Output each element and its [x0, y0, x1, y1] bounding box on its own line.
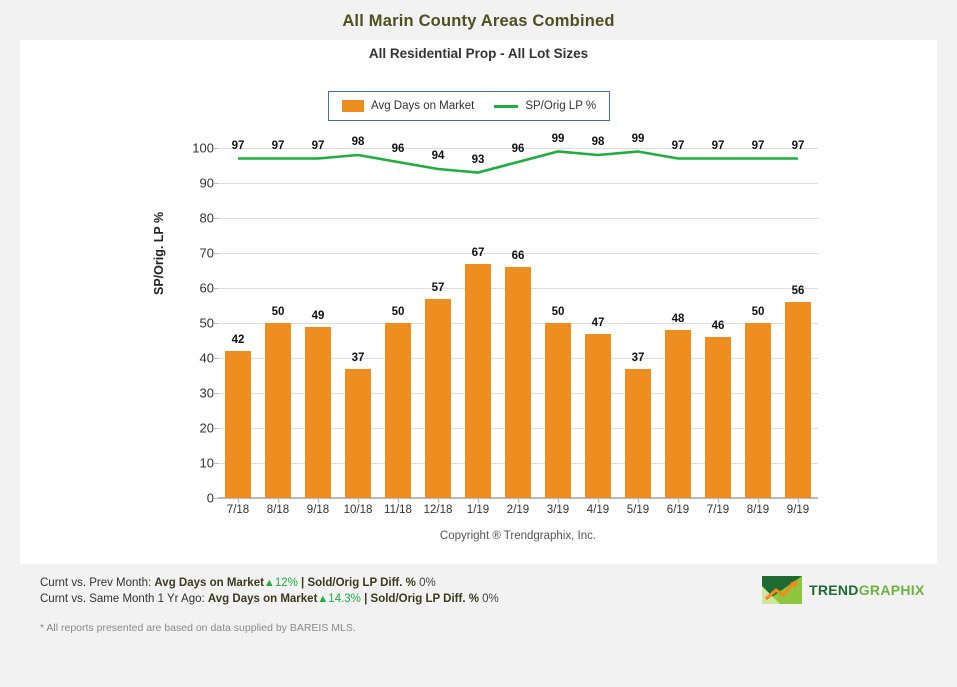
line-value-label: 97 [752, 140, 765, 152]
bar[interactable] [425, 299, 451, 499]
y-axis-tick-mark [213, 288, 218, 289]
footer-line-prev-month: Curnt vs. Prev Month: Avg Days on Market… [40, 576, 740, 592]
y-axis-tick-label: 50 [154, 316, 214, 331]
footer-value-1a: 12% [275, 577, 298, 589]
trendgraphix-logo: TRENDGRAPHIX [762, 576, 925, 604]
bar-value-label: 46 [712, 320, 725, 332]
disclaimer-text: * All reports presented are based on dat… [40, 622, 356, 634]
bar[interactable] [705, 337, 731, 498]
bar-value-label: 37 [632, 352, 645, 364]
x-axis-tick-label: 1/19 [467, 504, 489, 516]
line-value-label: 98 [592, 136, 605, 148]
bar-value-label: 50 [552, 306, 565, 318]
bar[interactable] [665, 330, 691, 498]
bar[interactable] [785, 302, 811, 498]
y-axis-tick-label: 20 [154, 421, 214, 436]
y-axis-tick-label: 0 [154, 491, 214, 506]
bar-value-label: 47 [592, 317, 605, 329]
y-axis-tick-mark [213, 323, 218, 324]
bar-value-label: 66 [512, 250, 525, 262]
bar[interactable] [225, 351, 251, 498]
bar-value-label: 49 [312, 310, 325, 322]
footer-prefix-1: Curnt vs. Prev Month: [40, 577, 151, 589]
x-axis-tick-mark [318, 498, 319, 503]
bar-value-label: 37 [352, 352, 365, 364]
footer-metric-2a: Avg Days on Market [208, 593, 318, 605]
logo-text-trend: TREND [809, 582, 859, 598]
x-axis-tick-label: 11/18 [384, 504, 412, 516]
bar[interactable] [305, 327, 331, 499]
y-axis-tick-mark [213, 148, 218, 149]
line-value-label: 99 [632, 133, 645, 145]
x-axis-tick-mark [678, 498, 679, 503]
footer-metric-1a: Avg Days on Market [154, 577, 264, 589]
y-axis-tick-mark [213, 183, 218, 184]
y-axis-tick-label: 10 [154, 456, 214, 471]
x-axis-tick-label: 7/18 [227, 504, 249, 516]
line-value-label: 97 [712, 140, 725, 152]
line-value-label: 96 [392, 143, 405, 155]
y-axis-tick-label: 70 [154, 246, 214, 261]
page-title: All Marin County Areas Combined [0, 12, 957, 31]
line-value-label: 99 [552, 133, 565, 145]
footer-value-1b: 0% [419, 577, 436, 589]
x-axis-tick-label: 8/18 [267, 504, 289, 516]
footer-metric-1b: Sold/Orig LP Diff. % [307, 577, 415, 589]
y-axis-tick-label: 80 [154, 211, 214, 226]
x-axis-tick-mark [398, 498, 399, 503]
bar-value-label: 50 [392, 306, 405, 318]
x-axis-tick-mark [758, 498, 759, 503]
x-axis-tick-label: 2/19 [507, 504, 529, 516]
x-axis-tick-mark [358, 498, 359, 503]
bar[interactable] [265, 323, 291, 498]
line-value-label: 96 [512, 143, 525, 155]
line-value-label: 97 [312, 140, 325, 152]
x-axis-tick-mark [478, 498, 479, 503]
trendgraphix-mark-icon [762, 576, 802, 604]
y-axis-tick-mark [213, 463, 218, 464]
x-axis-tick-label: 9/18 [307, 504, 329, 516]
x-axis-tick-label: 9/19 [787, 504, 809, 516]
line-value-label: 97 [672, 140, 685, 152]
footer-prefix-2: Curnt vs. Same Month 1 Yr Ago: [40, 593, 205, 605]
y-axis-tick-label: 90 [154, 176, 214, 191]
up-arrow-icon-1: ▲ [264, 577, 275, 589]
footer-separator-1: | [301, 577, 304, 589]
x-axis-tick-label: 5/19 [627, 504, 649, 516]
bar-value-label: 56 [792, 285, 805, 297]
x-axis-tick-label: 10/18 [344, 504, 373, 516]
footer-value-2a: 14.3% [328, 593, 361, 605]
y-axis-tick-label: 60 [154, 281, 214, 296]
bar[interactable] [585, 334, 611, 499]
footer-value-2b: 0% [482, 593, 499, 605]
x-axis-tick-label: 12/18 [424, 504, 453, 516]
y-axis-tick-mark [213, 498, 218, 499]
y-axis-tick-mark [213, 428, 218, 429]
gridline [218, 183, 818, 184]
line-value-label: 98 [352, 136, 365, 148]
bar-value-label: 50 [752, 306, 765, 318]
x-axis-tick-label: 8/19 [747, 504, 769, 516]
line-value-label: 93 [472, 154, 485, 166]
line-value-label: 97 [792, 140, 805, 152]
chart-card: All Residential Prop - All Lot Sizes Avg… [20, 40, 937, 564]
y-axis-tick-mark [213, 393, 218, 394]
bar[interactable] [465, 264, 491, 499]
bar-value-label: 48 [672, 313, 685, 325]
plot-area: 0102030405060708090100427/18508/18499/18… [218, 148, 818, 498]
y-axis-tick-mark [213, 358, 218, 359]
line-value-label: 94 [432, 150, 445, 162]
x-axis-tick-label: 6/19 [667, 504, 689, 516]
bar[interactable] [745, 323, 771, 498]
x-axis-tick-label: 4/19 [587, 504, 609, 516]
bar[interactable] [345, 369, 371, 499]
bar-value-label: 67 [472, 247, 485, 259]
y-axis-tick-label: 40 [154, 351, 214, 366]
bar[interactable] [505, 267, 531, 498]
x-axis-tick-mark [598, 498, 599, 503]
up-arrow-icon-2: ▲ [317, 593, 328, 605]
x-axis-tick-label: 7/19 [707, 504, 729, 516]
x-axis-tick-mark [518, 498, 519, 503]
line-value-label: 97 [232, 140, 245, 152]
report-page: All Marin County Areas Combined All Resi… [0, 0, 957, 687]
logo-text-graphix: GRAPHIX [859, 582, 925, 598]
x-axis-tick-mark [238, 498, 239, 503]
y-axis-tick-mark [213, 218, 218, 219]
x-axis-tick-mark [638, 498, 639, 503]
x-axis-tick-mark [278, 498, 279, 503]
bar-value-label: 42 [232, 334, 245, 346]
y-axis-tick-label: 30 [154, 386, 214, 401]
x-axis-tick-mark [558, 498, 559, 503]
trendgraphix-wordmark: TRENDGRAPHIX [809, 582, 925, 598]
y-axis-tick-label: 100 [154, 141, 214, 156]
footer-summary: Curnt vs. Prev Month: Avg Days on Market… [40, 576, 740, 607]
x-axis-tick-mark [718, 498, 719, 503]
bar[interactable] [545, 323, 571, 498]
gridline [218, 218, 818, 219]
bar[interactable] [625, 369, 651, 499]
bar-value-label: 57 [432, 282, 445, 294]
x-axis-tick-mark [798, 498, 799, 503]
y-axis-tick-mark [213, 253, 218, 254]
footer-line-same-month-1yr: Curnt vs. Same Month 1 Yr Ago: Avg Days … [40, 592, 740, 608]
footer-metric-2b: Sold/Orig LP Diff. % [371, 593, 479, 605]
footer-separator-2: | [364, 593, 367, 605]
x-axis-tick-mark [438, 498, 439, 503]
bar-value-label: 50 [272, 306, 285, 318]
x-axis-tick-label: 3/19 [547, 504, 569, 516]
line-value-label: 97 [272, 140, 285, 152]
bar[interactable] [385, 323, 411, 498]
copyright-text: Copyright ® Trendgraphix, Inc. [218, 530, 818, 542]
plot-wrap: SP/Orig. LP % 0102030405060708090100427/… [20, 40, 937, 564]
